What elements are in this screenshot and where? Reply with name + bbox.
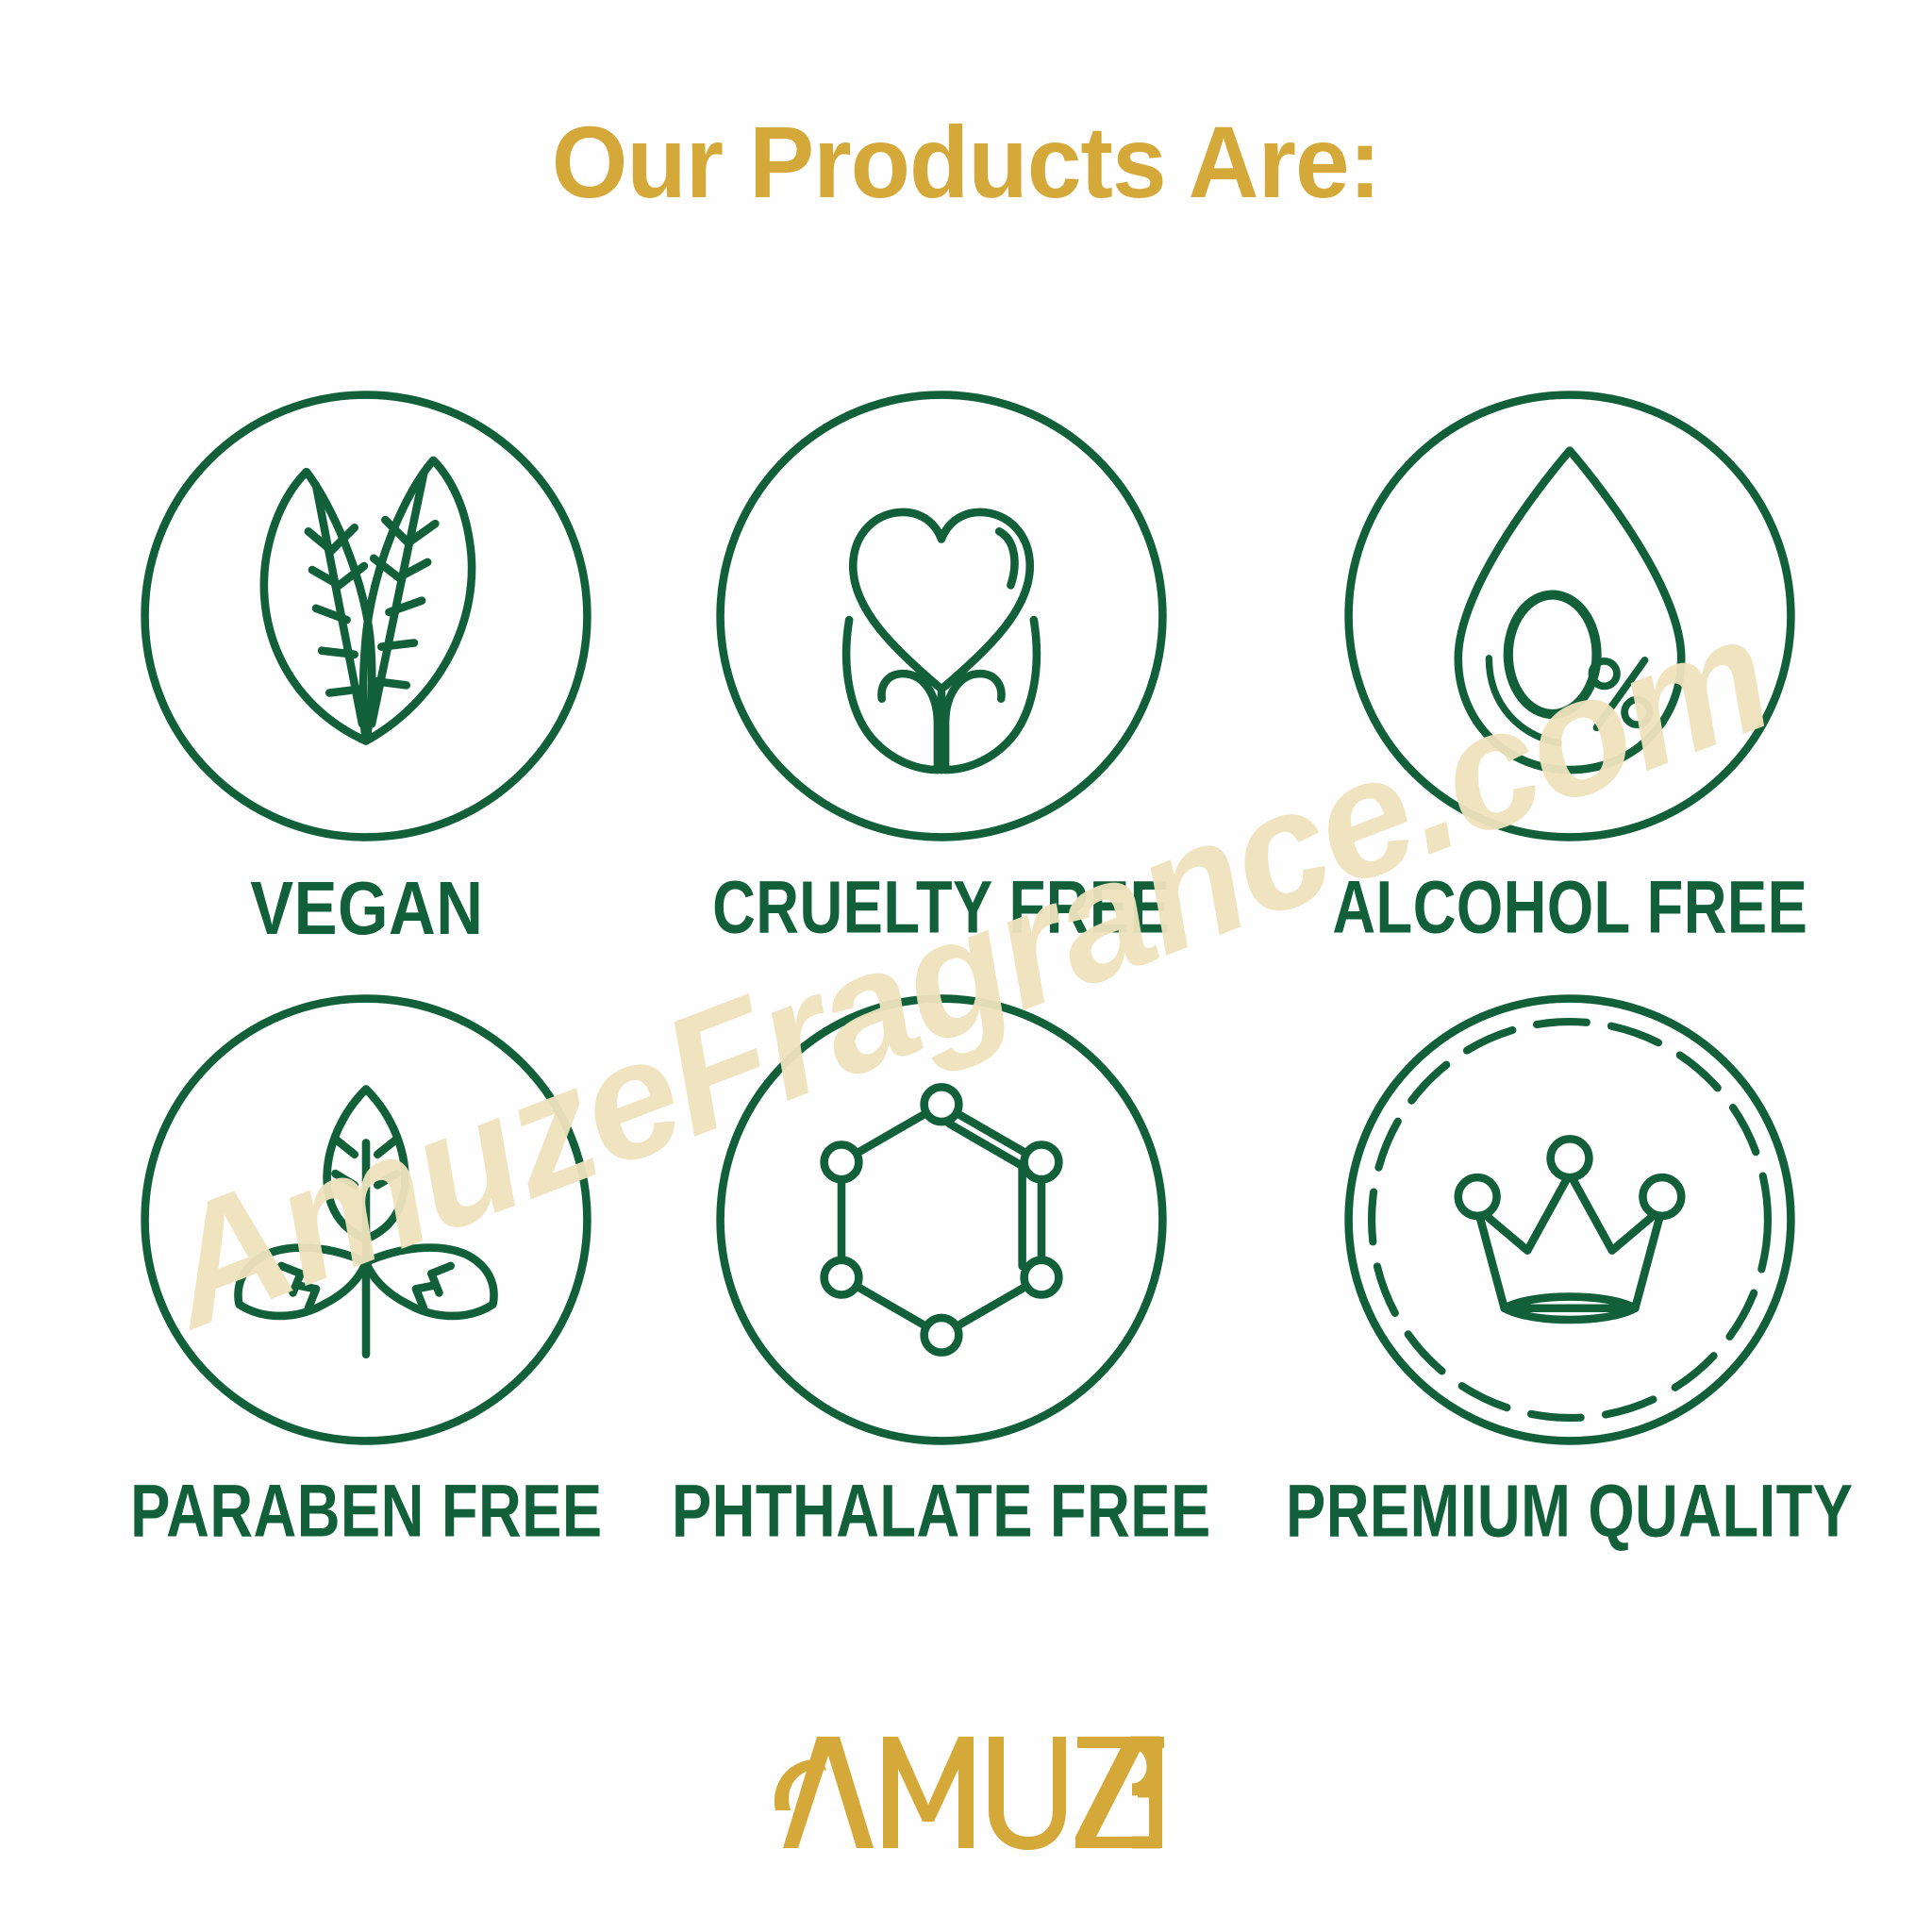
- leafy-plant-icon: [116, 970, 616, 1470]
- cruelty-free-ring: [691, 366, 1191, 866]
- amuze-wordmark-icon: [768, 1724, 1164, 1865]
- badge-premium-quality[interactable]: PREMIUM QUALITY: [1247, 970, 1891, 1574]
- badge-cruelty-free[interactable]: CRUELTY FREE: [635, 366, 1248, 970]
- vegan-ring: [116, 366, 616, 866]
- poster-canvas: Our Products Are: AmuzeFragrance.com: [0, 0, 1932, 1932]
- two-leaves-icon: [116, 366, 616, 866]
- brand-logo[interactable]: AMUZE: [0, 1724, 1932, 1870]
- premium-quality-ring: [1320, 970, 1820, 1470]
- badge-phthalate-free[interactable]: PHTHALATE FREE: [635, 970, 1248, 1574]
- badge-paraben-free[interactable]: PARABEN FREE: [98, 970, 635, 1574]
- alcohol-free-ring: [1320, 366, 1820, 866]
- badge-label: PARABEN FREE: [130, 1474, 602, 1548]
- badge-label: PREMIUM QUALITY: [1286, 1474, 1853, 1548]
- badge-label: CRUELTY FREE: [712, 870, 1170, 944]
- badge-grid: VEGAN CRUELTY FREE: [98, 366, 1834, 1574]
- badge-label: VEGAN: [250, 871, 483, 946]
- heart-in-hands-icon: [691, 366, 1191, 866]
- badge-label: PHTHALATE FREE: [672, 1474, 1211, 1548]
- crown-dashed-circle-icon: [1320, 970, 1820, 1470]
- badge-alcohol-free[interactable]: ALCOHOL FREE: [1247, 366, 1891, 970]
- molecule-hexagon-icon: [691, 970, 1191, 1470]
- paraben-free-ring: [116, 970, 616, 1470]
- page-title: Our Products Are:: [39, 111, 1893, 213]
- phthalate-free-ring: [691, 970, 1191, 1470]
- badge-vegan[interactable]: VEGAN: [98, 366, 635, 970]
- water-drop-zero-percent-icon: [1320, 366, 1820, 866]
- badge-label: ALCOHOL FREE: [1332, 870, 1807, 944]
